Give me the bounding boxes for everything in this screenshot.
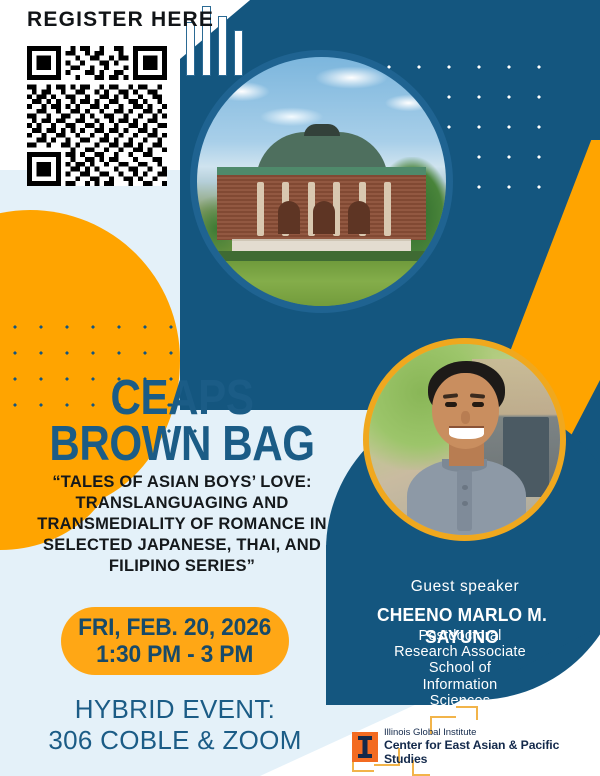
event-location: HYBRID EVENT: 306 COBLE & ZOOM (10, 694, 340, 755)
illinois-block-i-icon (352, 732, 378, 762)
center-name: Center for East Asian & Pacific Studies (384, 738, 600, 766)
organization-logo: Illinois Global Institute Center for Eas… (352, 728, 600, 767)
affiliation-line-1: Postdoctoral (352, 628, 568, 644)
affiliation-line-2: Research Associate (352, 644, 568, 660)
location-line-2: 306 COBLE & ZOOM (10, 725, 340, 756)
auditorium-arched-doors (272, 201, 377, 233)
speaker-eye-left (445, 402, 456, 407)
quad-lawn (197, 261, 446, 306)
event-date: FRI, FEB. 20, 2026 (79, 614, 272, 642)
title-line-2: BROWN BAG (39, 422, 325, 468)
speaker-button-1 (462, 485, 468, 490)
speaker-nose (461, 411, 471, 424)
speaker-button-2 (462, 501, 468, 506)
logo-text-block: Illinois Global Institute Center for Eas… (384, 728, 600, 767)
event-poster: REGISTER HERE (0, 0, 600, 776)
title-line-1: CEAPS (39, 376, 325, 422)
page-title: CEAPS BROWN BAG (39, 376, 325, 467)
speaker-portrait (369, 344, 560, 535)
register-here-label: REGISTER HERE (27, 8, 214, 32)
location-line-1: HYBRID EVENT: (10, 694, 340, 725)
corner-bracket-decoration-2 (456, 706, 478, 720)
guest-speaker-label: Guest speaker (340, 578, 590, 596)
affiliation-line-3: School of (352, 660, 568, 676)
affiliation-line-4: Information (352, 677, 568, 693)
qr-code-icon[interactable] (27, 46, 167, 186)
speaker-affiliation: Postdoctoral Research Associate School o… (352, 628, 568, 709)
speaker-smile (449, 426, 483, 439)
date-time-badge: FRI, FEB. 20, 2026 1:30 PM - 3 PM (61, 607, 289, 675)
foellinger-auditorium-photo (197, 57, 446, 306)
speaker-photo-ring (363, 338, 566, 541)
building-photo-ring (190, 50, 453, 313)
event-time: 1:30 PM - 3 PM (97, 641, 254, 669)
institute-name: Illinois Global Institute (384, 728, 600, 738)
talk-subtitle: “TALES OF ASIAN BOYS’ LOVE: TRANSLANGUAG… (14, 472, 350, 577)
speaker-eye-right (472, 402, 483, 407)
